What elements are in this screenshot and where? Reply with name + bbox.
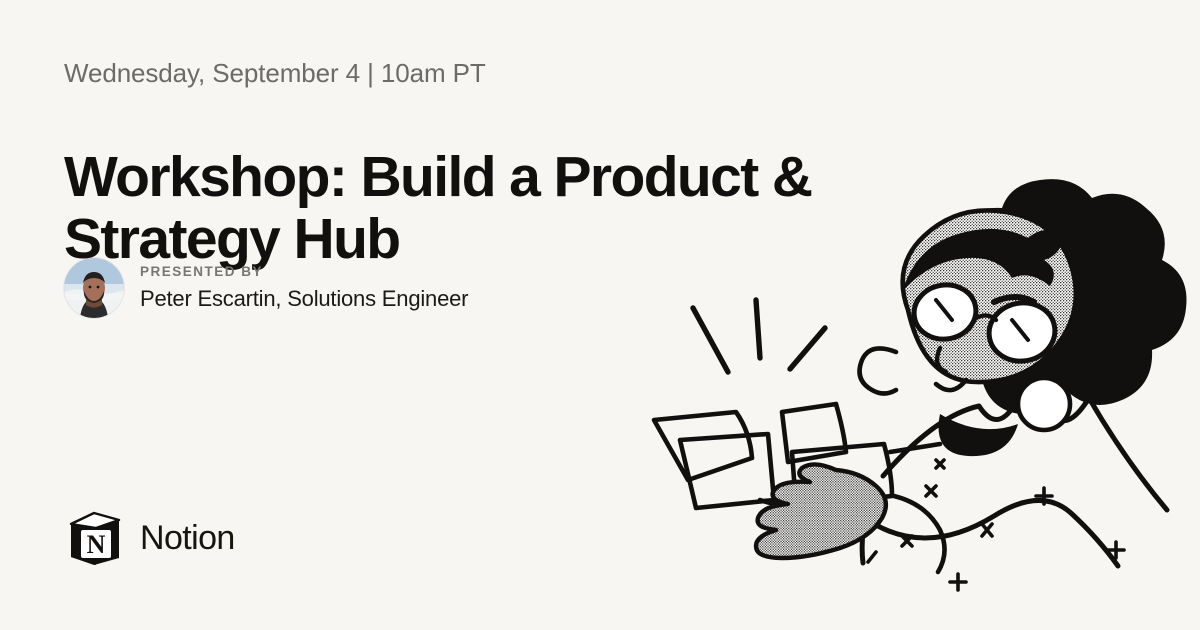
svg-text:N: N — [87, 530, 106, 559]
character-head — [860, 210, 1076, 456]
event-date: Wednesday, September 4 | 10am PT — [64, 58, 486, 89]
page-title: Workshop: Build a Product & Strategy Hub — [64, 146, 864, 270]
afro-hair — [934, 179, 1186, 414]
social-card-canvas: Wednesday, September 4 | 10am PT Worksho… — [0, 0, 1200, 630]
presenter-name: Peter Escartin, Solutions Engineer — [140, 286, 468, 312]
patterned-shirt — [862, 398, 1167, 590]
notion-brand-lockup: N Notion — [64, 508, 235, 568]
presenter-text: PRESENTED BY Peter Escartin, Solutions E… — [140, 264, 468, 312]
avatar — [64, 258, 124, 318]
round-glasses — [910, 280, 1060, 366]
presenter-block: PRESENTED BY Peter Escartin, Solutions E… — [64, 258, 468, 318]
notion-cube-logo: N — [64, 508, 124, 568]
notion-wordmark: Notion — [140, 519, 235, 558]
presented-by-label: PRESENTED BY — [140, 264, 468, 279]
